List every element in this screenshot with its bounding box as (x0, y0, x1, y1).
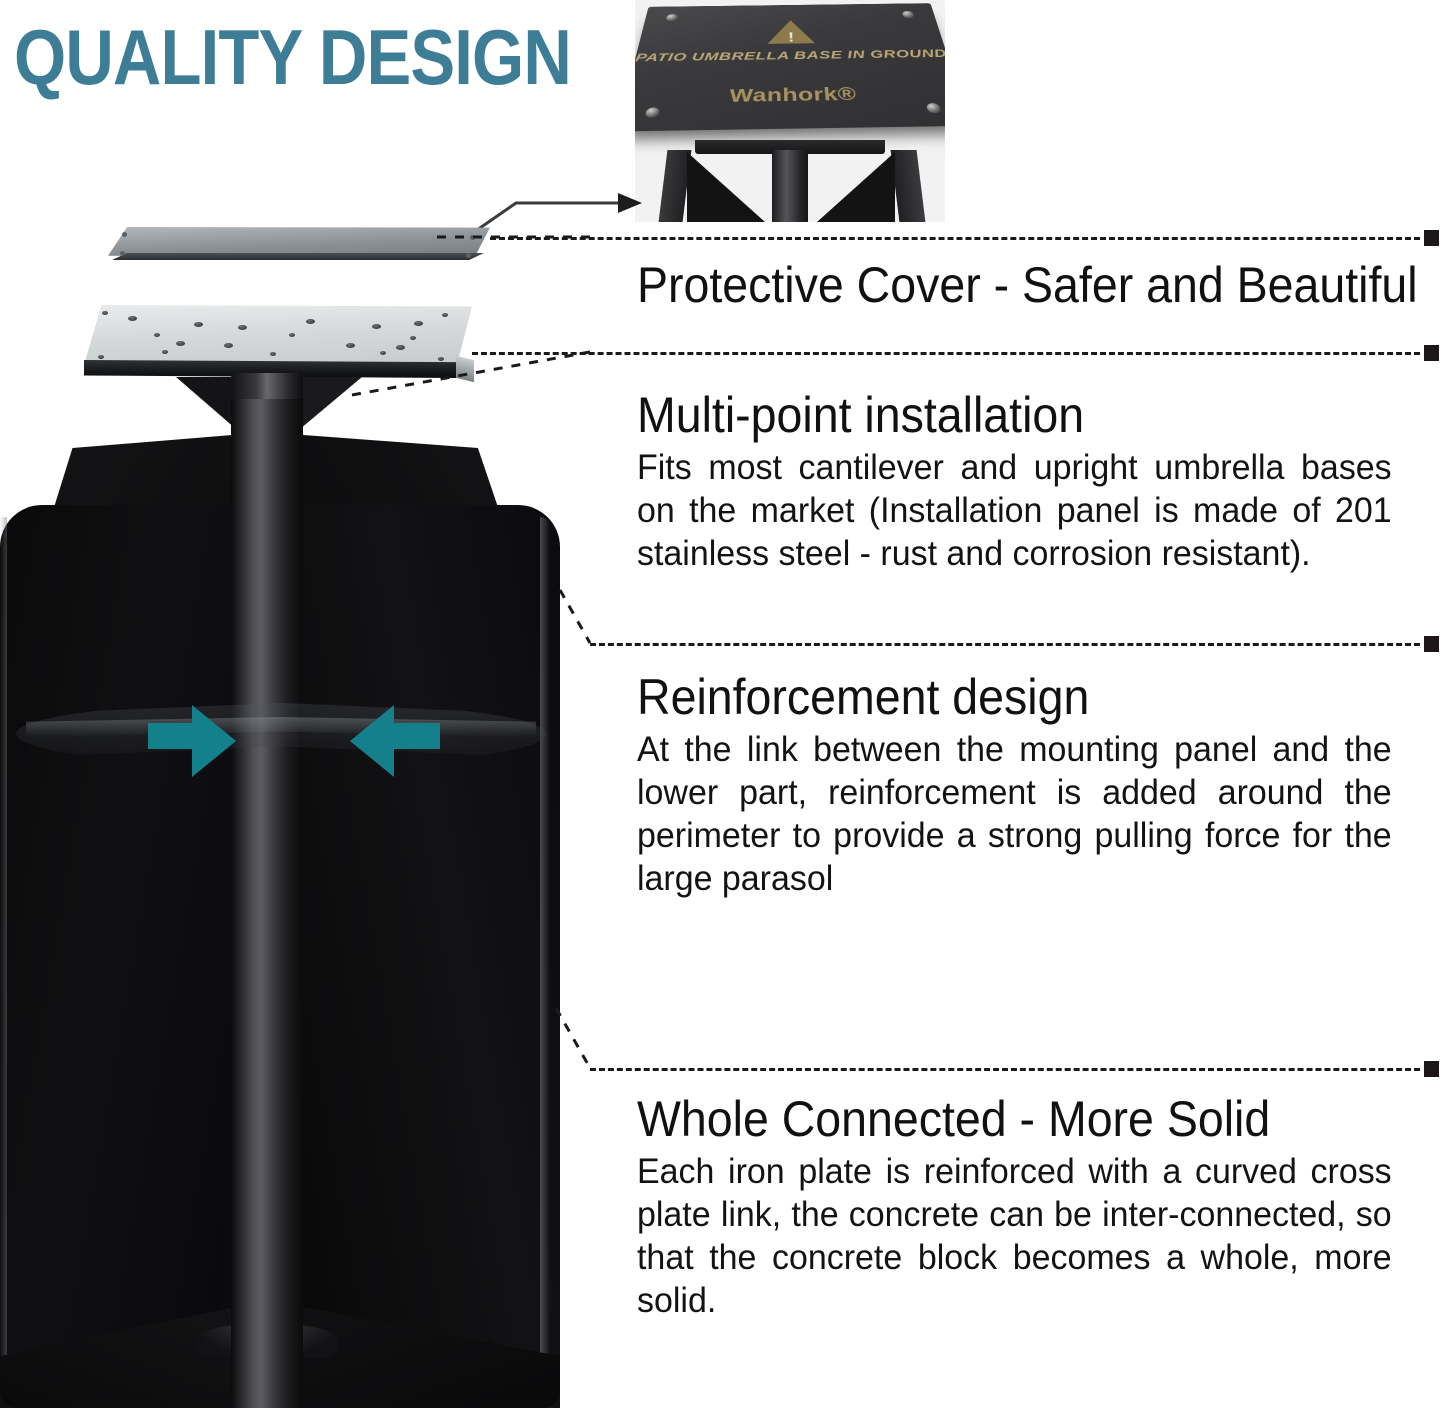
screw-icon (902, 11, 915, 18)
cover-plate-surface: ! PATIO UMBRELLA BASE IN GROUND Wanhork® (635, 3, 945, 131)
cover-screw-icon (120, 251, 125, 256)
feature-body: At the link between the mounting panel a… (637, 728, 1392, 900)
arrow-left-teal-tail (392, 723, 440, 749)
page-title: QUALITY DESIGN (14, 18, 571, 96)
warning-exclamation-glyph: ! (788, 31, 795, 44)
arrow-right-teal (192, 705, 236, 777)
center-post (772, 150, 808, 222)
divider-end-marker-1 (1424, 230, 1439, 246)
feature-body: Fits most cantilever and upright umbrell… (637, 446, 1392, 575)
gusset-bracket-left (176, 377, 236, 429)
feature-reinforcement-design: Reinforcement design At the link between… (637, 670, 1415, 900)
fin-left (687, 152, 765, 222)
feature-heading: Reinforcement design (637, 670, 1361, 724)
feature-whole-connected: Whole Connected - More Solid Each iron p… (637, 1092, 1415, 1322)
mounting-panel (84, 305, 472, 367)
feature-multi-point-installation: Multi-point installation Fits most canti… (637, 388, 1415, 575)
fin-right (817, 152, 895, 222)
screw-icon (926, 103, 942, 113)
center-post (231, 373, 303, 1408)
gusset-bracket-right (300, 377, 362, 429)
cover-screw-icon (122, 232, 127, 237)
protective-cover-plate (108, 227, 490, 257)
divider-end-marker-4 (1424, 1061, 1439, 1077)
cover-warning-text: PATIO UMBRELLA BASE IN GROUND (635, 47, 945, 64)
iron-plate-front-left (0, 505, 268, 1408)
arrow-right-teal-tail (148, 723, 196, 749)
feature-heading: Multi-point installation (637, 388, 1361, 442)
divider-4 (590, 1068, 1420, 1071)
cover-screw-icon (466, 253, 471, 258)
feature-heading: Protective Cover - Safer and Beautiful (637, 258, 1361, 312)
feature-body: Each iron plate is reinforced with a cur… (637, 1150, 1392, 1322)
plate-highlight-right (540, 517, 550, 1397)
divider-end-marker-3 (1424, 636, 1439, 652)
screw-icon (665, 14, 678, 21)
protective-cover-plate-edge (112, 253, 484, 260)
cover-screw-icon (470, 235, 475, 240)
center-post-collar (231, 373, 303, 399)
cover-plate-closeup-photo: ! PATIO UMBRELLA BASE IN GROUND Wanhork® (635, 0, 945, 222)
fin-far-right (891, 150, 926, 222)
mounting-panel-edge-right (456, 356, 474, 382)
product-photo (0, 205, 600, 1408)
plate-highlight-left (0, 517, 7, 1397)
brand-logo-text: Wanhork® (635, 83, 945, 109)
arrow-left-teal (350, 705, 394, 777)
divider-2 (472, 352, 1420, 355)
divider-end-marker-2 (1424, 345, 1439, 361)
feature-heading: Whole Connected - More Solid (637, 1092, 1361, 1146)
divider-1 (490, 237, 1420, 240)
feature-protective-cover: Protective Cover - Safer and Beautiful (637, 258, 1415, 312)
divider-3 (590, 643, 1420, 646)
iron-plate-front-right (268, 505, 560, 1408)
